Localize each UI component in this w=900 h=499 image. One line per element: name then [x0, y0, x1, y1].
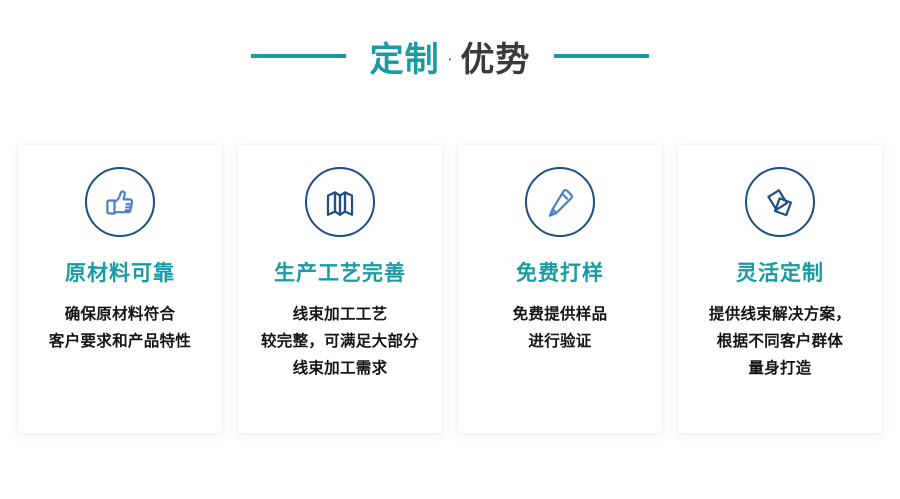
page-title-main: 优势	[460, 32, 530, 81]
pencil-icon	[525, 167, 595, 237]
page-title-separator: ·	[447, 48, 454, 71]
feature-card-body-line: 客户要求和产品特性	[49, 328, 191, 355]
feature-card[interactable]: 灵活定制 提供线束解决方案， 根据不同客户群体 量身打造	[678, 145, 882, 433]
thumbs-up-icon	[85, 167, 155, 237]
page-title-accent: 定制	[370, 32, 440, 81]
section-header: 定制 · 优势	[0, 30, 900, 82]
feature-card[interactable]: 生产工艺完善 线束加工工艺 较完整，可满足大部分 线束加工需求	[238, 145, 442, 433]
feature-card-body: 免费提供样品 进行验证	[507, 301, 614, 355]
feature-card[interactable]: 免费打样 免费提供样品 进行验证	[458, 145, 662, 433]
feature-card-body-line: 免费提供样品	[513, 301, 608, 328]
feature-card-title: 生产工艺完善	[274, 263, 406, 284]
feature-card-body-line: 提供线束解决方案，	[709, 301, 851, 328]
feature-card-list: 原材料可靠 确保原材料符合 客户要求和产品特性 生产工艺完善 线束加工工艺 较完…	[18, 145, 882, 433]
feature-card-body-line: 线束加工工艺	[261, 301, 419, 328]
feature-card-title: 原材料可靠	[65, 263, 175, 284]
feature-card-body-line: 较完整，可满足大部分	[261, 328, 419, 355]
feature-card-title: 免费打样	[516, 263, 604, 284]
feature-card-body-line: 根据不同客户群体	[709, 328, 851, 355]
page-title: 定制 · 优势	[370, 32, 531, 81]
feature-card-body-line: 线束加工需求	[261, 355, 419, 382]
feature-card[interactable]: 原材料可靠 确保原材料符合 客户要求和产品特性	[18, 145, 222, 433]
header-rule-left	[251, 54, 346, 58]
header-rule-right	[554, 54, 649, 58]
folded-map-icon	[305, 167, 375, 237]
feature-card-body-line: 进行验证	[513, 328, 608, 355]
feature-card-body-line: 量身打造	[709, 355, 851, 382]
feature-card-title: 灵活定制	[736, 263, 824, 284]
feature-card-body: 提供线束解决方案， 根据不同客户群体 量身打造	[703, 301, 857, 382]
feature-card-body: 线束加工工艺 较完整，可满足大部分 线束加工需求	[255, 301, 425, 382]
feature-card-body-line: 确保原材料符合	[49, 301, 191, 328]
stacked-sheets-icon	[745, 167, 815, 237]
feature-card-body: 确保原材料符合 客户要求和产品特性	[43, 301, 197, 355]
